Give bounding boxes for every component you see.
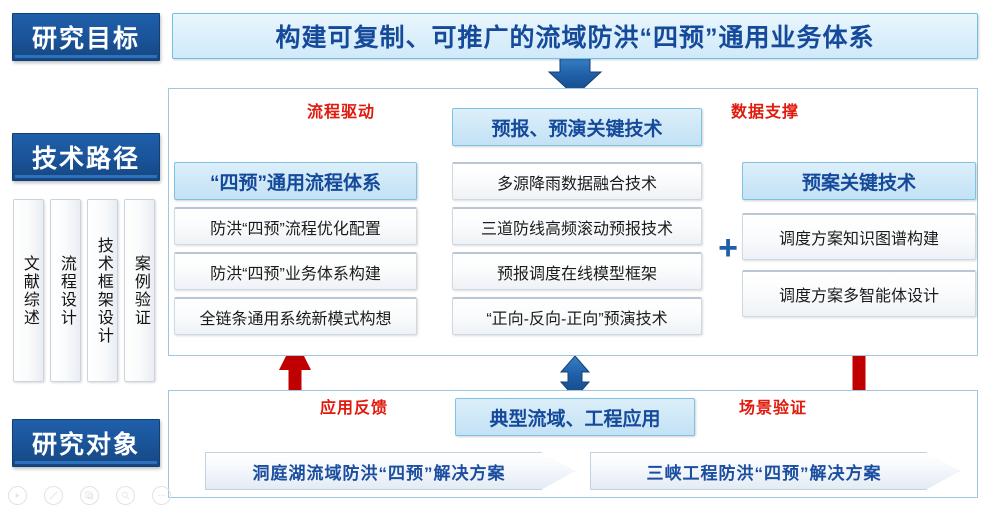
plus-operator-label: + xyxy=(718,229,738,267)
col-plan-header: 预案关键技术 xyxy=(742,162,976,200)
col-plan-item-0: 调度方案知识图谱构建 xyxy=(742,213,976,260)
main-title-box: 构建可复制、可推广的流域防洪“四预”通用业务体系 xyxy=(172,13,978,59)
play-icon[interactable] xyxy=(8,486,27,505)
arrow-label-app-feedback: 应用反馈 xyxy=(320,394,388,418)
page-title: 构建可复制、可推广的流域防洪“四预”通用业务体系 xyxy=(275,18,874,54)
col-forecast-item-2: 预报调度在线模型框架 xyxy=(452,252,702,290)
col-process-header-label: “四预”通用流程体系 xyxy=(210,168,381,195)
col-forecast-header: 预报、预演关键技术 xyxy=(452,108,702,146)
col-plan-item-0-label: 调度方案知识图谱构建 xyxy=(779,225,939,249)
solution-chevron-dongting-label: 洞庭湖流域防洪“四预”解决方案 xyxy=(253,459,506,484)
plus-operator: + xyxy=(713,234,743,264)
col-process-item-0: 防洪“四预”流程优化配置 xyxy=(174,207,417,245)
col-forecast-item-2-label: 预报调度在线模型框架 xyxy=(497,260,657,284)
col-plan-header-label: 预案关键技术 xyxy=(802,168,916,195)
col-process-item-1-label: 防洪“四预”业务体系构建 xyxy=(210,260,381,284)
badge-research-goal: 研究目标 xyxy=(12,13,160,61)
arrow-label-scene-verify: 场景验证 xyxy=(739,394,807,418)
col-forecast-header-label: 预报、预演关键技术 xyxy=(491,114,662,141)
col-forecast-item-3-label: “正向-反向-正向”预演技术 xyxy=(486,305,667,329)
search-icon[interactable] xyxy=(116,486,135,505)
badge-tech-path-label: 技术路径 xyxy=(32,139,140,175)
stage-tile-case-verify-label: 案例验证 xyxy=(131,255,148,327)
col-process-item-2-label: 全链条通用系统新模式构想 xyxy=(199,305,391,329)
application-header: 典型流域、工程应用 xyxy=(455,398,695,436)
col-forecast-item-0: 多源降雨数据融合技术 xyxy=(452,162,702,200)
solution-chevron-sanxia-label: 三峡工程防洪“四预”解决方案 xyxy=(647,459,882,484)
badge-research-object: 研究对象 xyxy=(12,419,160,467)
col-process-item-0-label: 防洪“四预”流程优化配置 xyxy=(210,215,381,239)
solution-chevron-dongting: 洞庭湖流域防洪“四预”解决方案 xyxy=(205,452,575,490)
stage-tile-process-design-label: 流程设计 xyxy=(57,255,74,327)
badge-research-object-label: 研究对象 xyxy=(32,425,140,461)
col-forecast-item-3: “正向-反向-正向”预演技术 xyxy=(452,297,702,335)
stage-tile-literature: 文献综述 xyxy=(13,199,44,382)
application-header-label: 典型流域、工程应用 xyxy=(489,404,660,431)
badge-research-goal-label: 研究目标 xyxy=(32,19,140,55)
pen-icon[interactable] xyxy=(44,486,63,505)
stage-tile-tech-framework: 技术框架设计 xyxy=(87,199,118,382)
stage-tile-case-verify: 案例验证 xyxy=(124,199,155,382)
stage-tile-tech-framework-label: 技术框架设计 xyxy=(94,237,111,345)
arrow-label-data-support: 数据支撑 xyxy=(731,98,799,122)
stage-tile-process-design: 流程设计 xyxy=(50,199,81,382)
arrow-label-process-drive: 流程驱动 xyxy=(307,98,375,122)
solution-chevron-sanxia: 三峡工程防洪“四预”解决方案 xyxy=(590,452,960,490)
col-forecast-item-1-label: 三道防线高频滚动预报技术 xyxy=(481,215,673,239)
col-process-item-2: 全链条通用系统新模式构想 xyxy=(174,297,417,335)
stage-tile-literature-label: 文献综述 xyxy=(20,255,37,327)
col-forecast-item-0-label: 多源降雨数据融合技术 xyxy=(497,170,657,194)
bottom-toolbar xyxy=(8,486,171,505)
col-plan-item-1-label: 调度方案多智能体设计 xyxy=(779,282,939,306)
col-process-header: “四预”通用流程体系 xyxy=(174,162,417,200)
copy-icon[interactable] xyxy=(80,486,99,505)
col-forecast-item-1: 三道防线高频滚动预报技术 xyxy=(452,207,702,245)
badge-tech-path: 技术路径 xyxy=(12,133,160,181)
col-process-item-1: 防洪“四预”业务体系构建 xyxy=(174,252,417,290)
col-plan-item-1: 调度方案多智能体设计 xyxy=(742,270,976,317)
roadmap-diagram: 研究目标 技术路径 研究对象 构建可复制、可推广的流域防洪“四预”通用业务体系 … xyxy=(0,0,988,510)
more-icon[interactable] xyxy=(152,486,171,505)
